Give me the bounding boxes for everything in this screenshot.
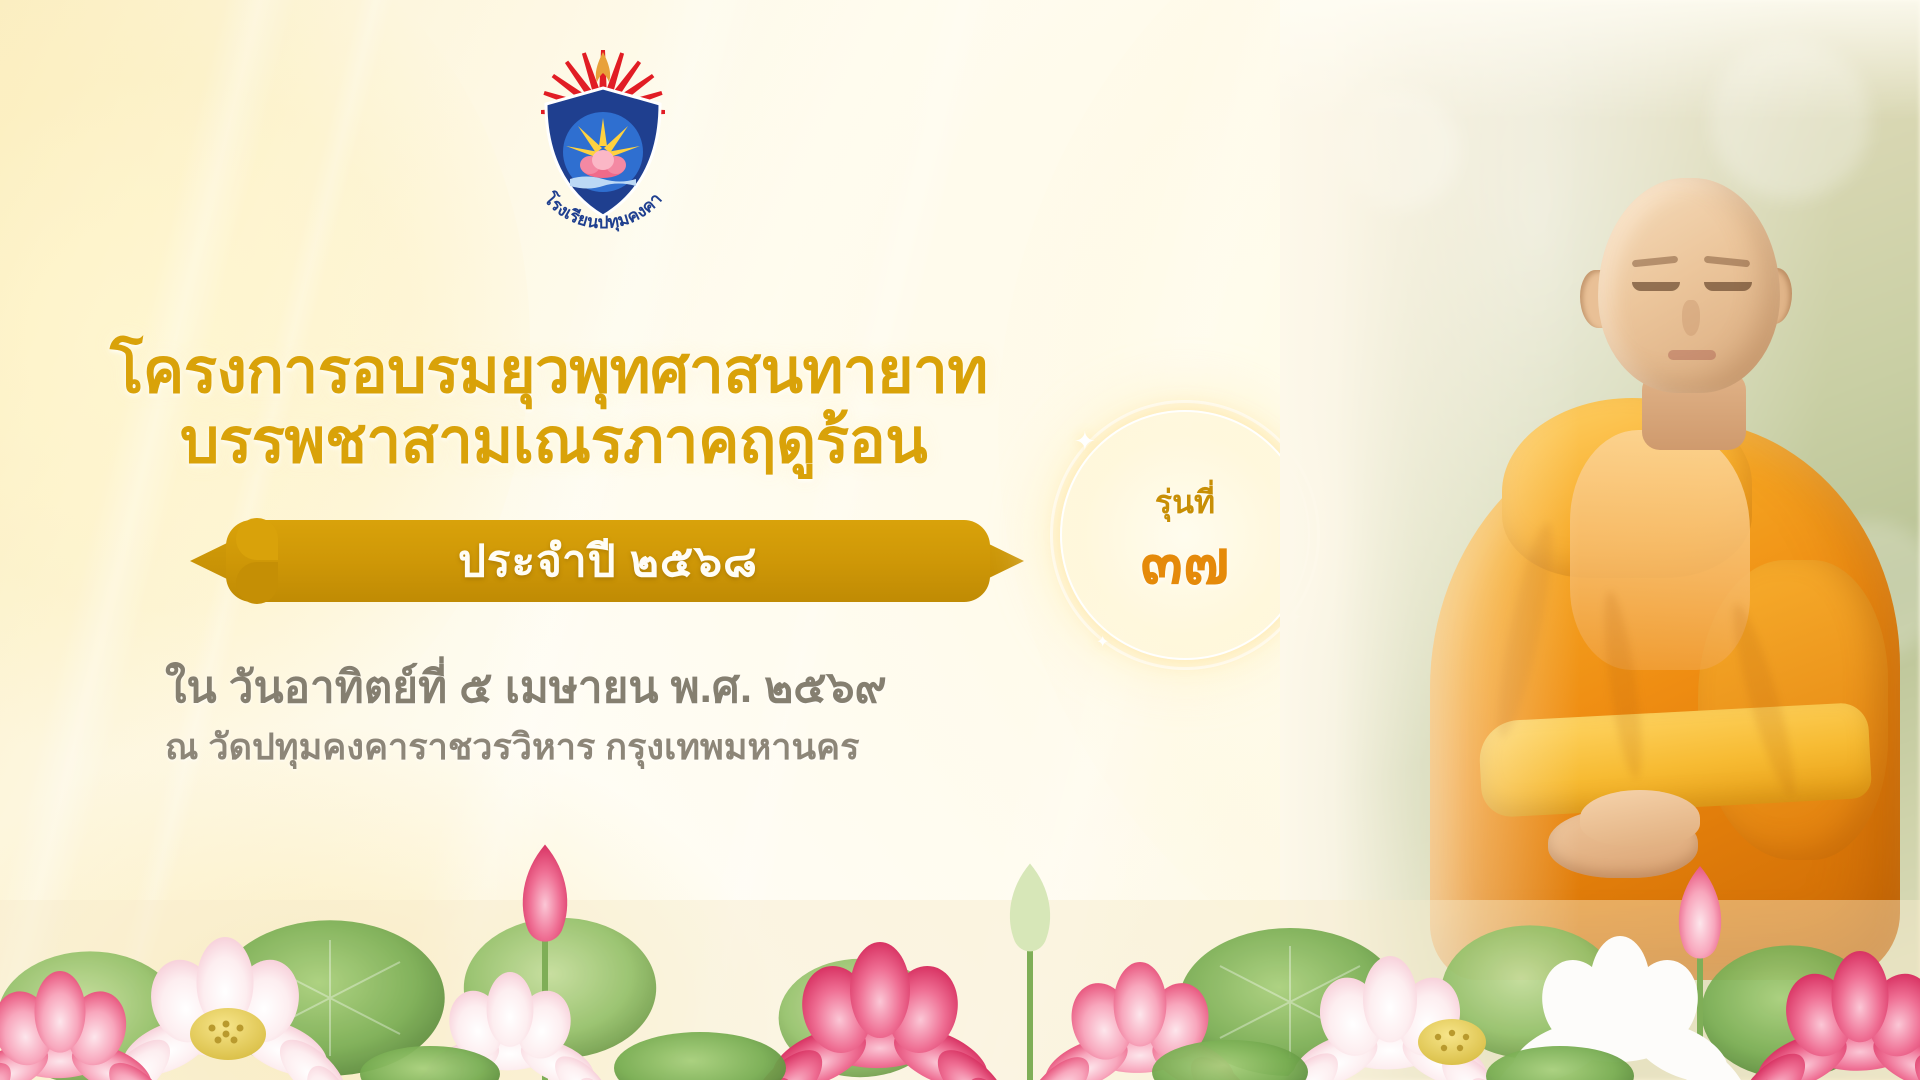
event-date-line: ใน วันอาทิตย์ที่ ๕ เมษายน พ.ศ. ๒๕๖๙ — [165, 652, 887, 722]
poster-text-block: โครงการอบรมยุวพุทศาสนทายาท บรรพชาสามเณรภ… — [0, 0, 1200, 1080]
event-venue-line: ณ วัดปทุมคงคาราชวรวิหาร กรุงเทพมหานคร — [165, 718, 859, 775]
novice-monk-photo — [1280, 0, 1920, 1080]
monk-nose — [1682, 300, 1700, 336]
monk-eye-right-closed — [1704, 282, 1752, 291]
poster-title-line-2: บรรพชาสามเณรภาคฤดูร้อน — [180, 392, 927, 490]
monk-head — [1598, 178, 1780, 393]
monk-mouth — [1668, 350, 1716, 360]
monk-hand-upper — [1580, 790, 1700, 846]
photo-left-fade — [1280, 0, 1580, 1080]
monk-eye-left-closed — [1632, 282, 1680, 291]
year-banner-label: ประจำปี ๒๕๖๘ — [226, 520, 990, 602]
batch-number: ๓๗ — [1140, 532, 1229, 594]
poster-canvas: โรงเรียนปทุมคงคา โครงการอบรมยุวพุทศาสนทา… — [0, 0, 1920, 1080]
monk-robe-chest — [1570, 430, 1750, 670]
year-banner: ประจำปี ๒๕๖๘ — [190, 520, 990, 602]
photo-top-fade — [1280, 0, 1920, 120]
batch-label: รุ่นที่ — [1155, 477, 1215, 528]
